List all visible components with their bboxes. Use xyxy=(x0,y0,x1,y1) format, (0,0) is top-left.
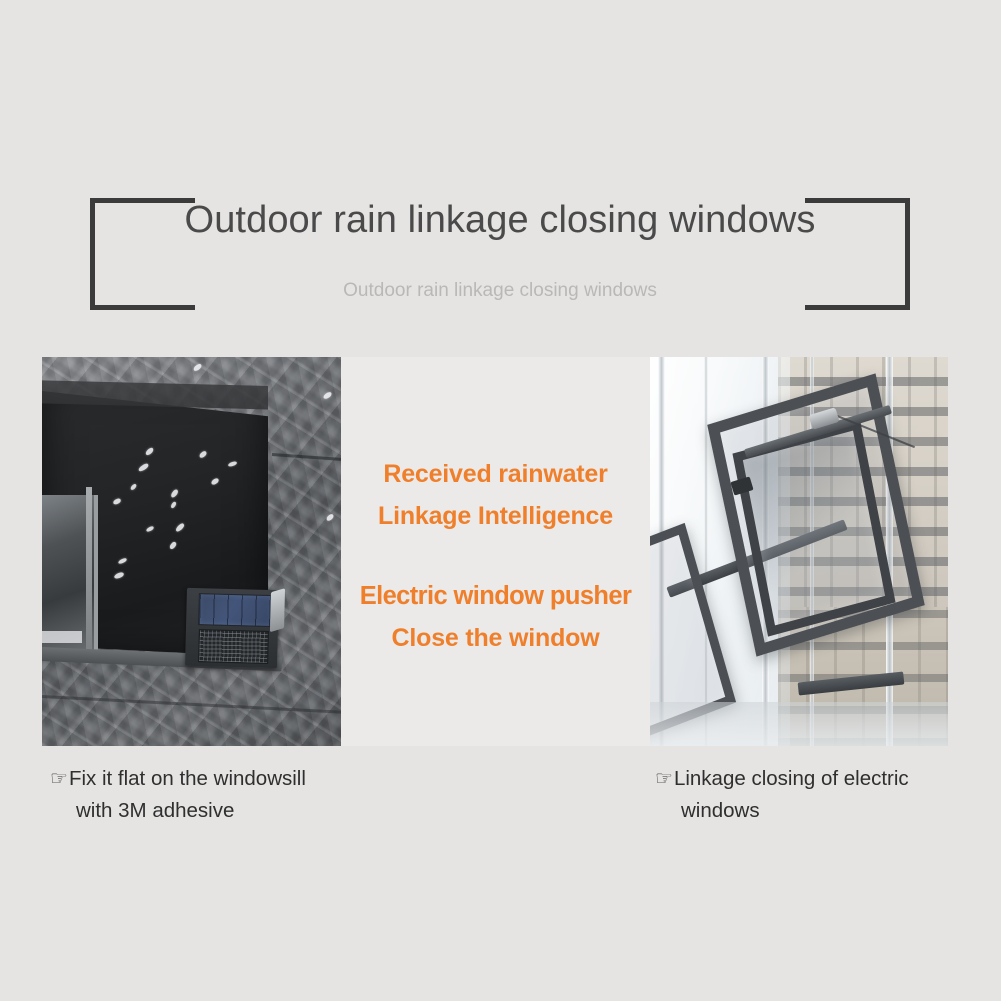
bracket-left-bottom-arm xyxy=(90,305,195,310)
solar-panel xyxy=(198,593,273,627)
rain-droplet xyxy=(192,363,202,372)
feature-line-1: Received rainwater xyxy=(341,453,650,495)
wall-seam-top xyxy=(272,453,341,462)
title-area: Outdoor rain linkage closing windows Out… xyxy=(90,198,910,310)
feature-line-3: Electric window pusher xyxy=(341,575,650,617)
electric-window-image xyxy=(650,357,948,746)
feature-text-group: Received rainwater Linkage Intelligence … xyxy=(341,453,650,659)
caption-left-line1: Fix it flat on the windowsill xyxy=(69,767,306,790)
page-title: Outdoor rain linkage closing windows xyxy=(90,194,910,246)
device-grille xyxy=(198,629,269,664)
caption-right: ☞Linkage closing of electric windows xyxy=(655,763,955,827)
bracket-right-bottom-arm xyxy=(805,305,910,310)
caption-right-line1: Linkage closing of electric xyxy=(674,767,909,790)
feature-line-4: Close the window xyxy=(341,617,650,659)
rain-sensor-device xyxy=(185,588,279,668)
feature-text-block-2: Electric window pusher Close the window xyxy=(341,575,650,659)
pointing-hand-icon: ☞ xyxy=(655,768,673,790)
rain-droplet xyxy=(325,513,334,522)
center-text-panel: Received rainwater Linkage Intelligence … xyxy=(341,357,650,746)
feature-line-2: Linkage Intelligence xyxy=(341,495,650,537)
caption-left: ☞Fix it flat on the windowsill with 3M a… xyxy=(50,763,350,827)
left-photo-panel xyxy=(42,357,341,746)
feature-text-block-1: Received rainwater Linkage Intelligence xyxy=(341,453,650,537)
rain-droplet xyxy=(322,391,332,400)
textured-wall-image xyxy=(42,357,341,746)
right-photo-panel xyxy=(650,357,948,746)
caption-left-line2: with 3M adhesive xyxy=(50,795,350,827)
wall-seam-bottom xyxy=(42,695,341,714)
panels-row: Received rainwater Linkage Intelligence … xyxy=(42,357,948,746)
pointing-hand-icon: ☞ xyxy=(50,768,68,790)
caption-right-line2: windows xyxy=(655,795,955,827)
page-subtitle: Outdoor rain linkage closing windows xyxy=(90,278,910,304)
window-mullion xyxy=(86,487,92,659)
device-mount-bracket xyxy=(270,588,285,632)
floor-reflection xyxy=(650,702,948,746)
